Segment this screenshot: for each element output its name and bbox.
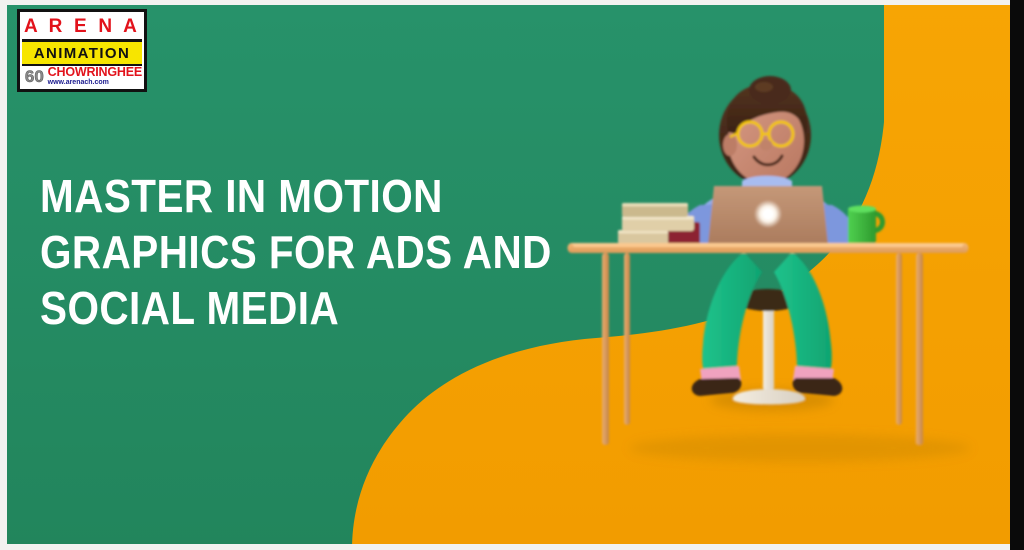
desk-leg-front-right: [916, 253, 923, 445]
logo-arena-text: A R E N A: [24, 17, 140, 36]
desk-top-edge: [572, 243, 964, 247]
logo-centre-name: CHOWRINGHEE: [48, 66, 142, 79]
character-right-leg: [774, 252, 832, 378]
logo-brand-secondary: ANIMATION: [22, 42, 142, 64]
stool-column: [763, 300, 774, 392]
desk-leg-back-right: [896, 253, 902, 425]
logo-brand-primary: A R E N A: [22, 14, 142, 42]
logo-centre-info: CHOWRINGHEE www.arenach.com: [47, 66, 142, 87]
logo-website: www.arenach.com: [48, 79, 109, 87]
arena-animation-logo: A R E N A ANIMATION 60 CHOWRINGHEE www.a…: [17, 9, 147, 92]
character-hair-bun-highlight: [755, 82, 773, 92]
laptop: [708, 186, 828, 244]
headline-line-3: SOCIAL MEDIA: [40, 280, 552, 336]
logo-animation-text: ANIMATION: [34, 46, 130, 61]
logo-centre-bar: 60 CHOWRINGHEE www.arenach.com: [22, 64, 142, 87]
character-ear: [723, 134, 737, 156]
headline-line-1: MASTER IN MOTION: [40, 168, 552, 224]
logo-badge-number: 60: [25, 68, 44, 85]
headline: MASTER IN MOTION GRAPHICS FOR ADS AND SO…: [40, 168, 552, 336]
promotional-banner: A R E N A ANIMATION 60 CHOWRINGHEE www.a…: [0, 0, 1024, 550]
desk-leg-back-left: [624, 253, 630, 425]
character-nose: [760, 140, 773, 151]
coffee-mug: [848, 206, 883, 245]
character-left-leg: [702, 252, 762, 378]
book-stack: [618, 203, 700, 244]
book-1-edge: [622, 203, 688, 207]
desk-leg-front-left: [602, 253, 609, 445]
headline-line-2: GRAPHICS FOR ADS AND: [40, 224, 552, 280]
logo-anniversary-badge: 60: [22, 66, 47, 87]
